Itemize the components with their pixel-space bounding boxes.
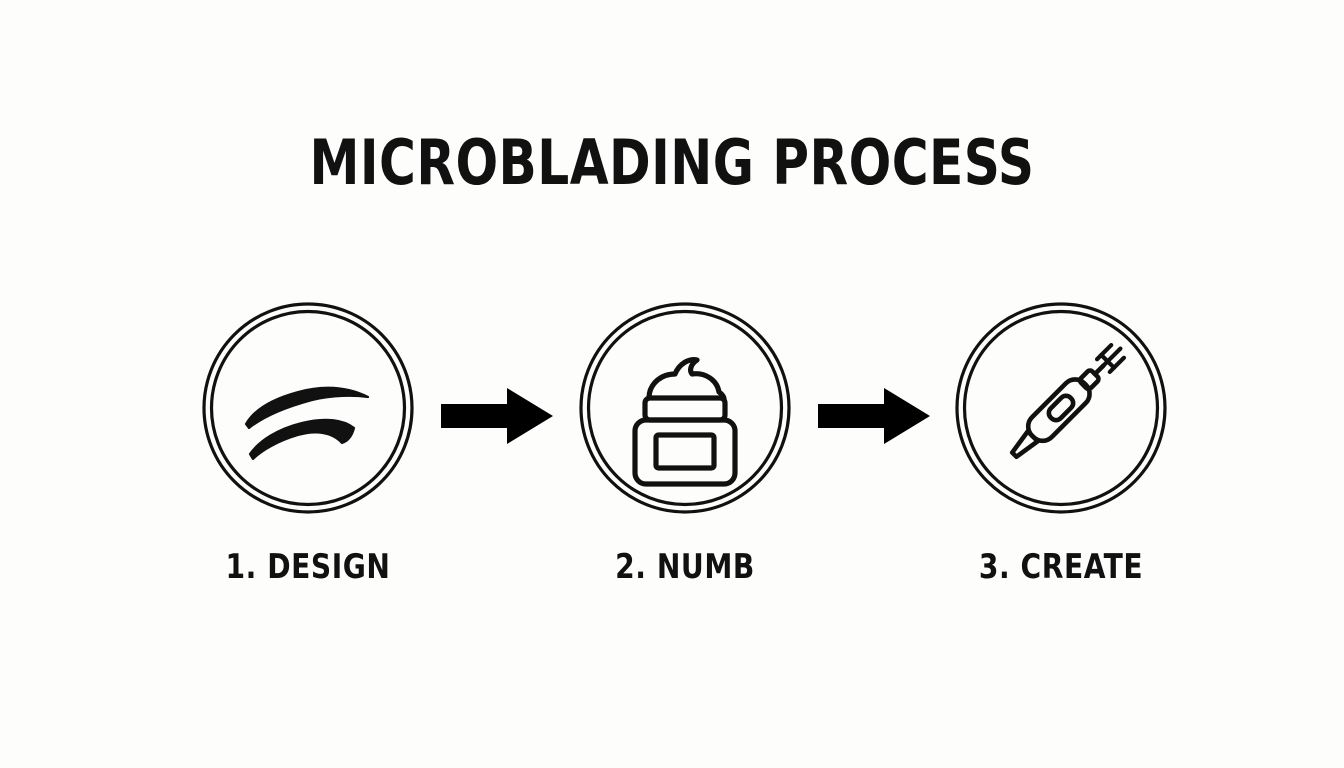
step-1-label: 1. DESIGN xyxy=(198,550,419,584)
step-2-label: 2. NUMB xyxy=(575,550,796,584)
arrow-right-icon xyxy=(441,385,553,447)
process-step-1[interactable]: 1. DESIGN xyxy=(188,302,428,584)
step-2-badge xyxy=(579,302,791,514)
cream-jar-icon xyxy=(579,302,791,514)
connector-arrow-1 xyxy=(441,385,553,447)
step-3-badge xyxy=(955,302,1167,514)
microblading-pen-icon xyxy=(955,302,1167,514)
eyebrows-icon xyxy=(202,302,414,514)
step-1-badge xyxy=(202,302,414,514)
arrow-right-icon xyxy=(818,385,930,447)
process-steps: 1. DESIGN 2. NUMB xyxy=(0,0,1344,768)
process-step-2[interactable]: 2. NUMB xyxy=(565,302,805,584)
process-step-3[interactable]: 3. CREATE xyxy=(941,302,1181,584)
infographic-canvas: MICROBLADING PROCESS 1. DESIGN xyxy=(0,0,1344,768)
connector-arrow-2 xyxy=(818,385,930,447)
step-3-label: 3. CREATE xyxy=(951,550,1172,584)
